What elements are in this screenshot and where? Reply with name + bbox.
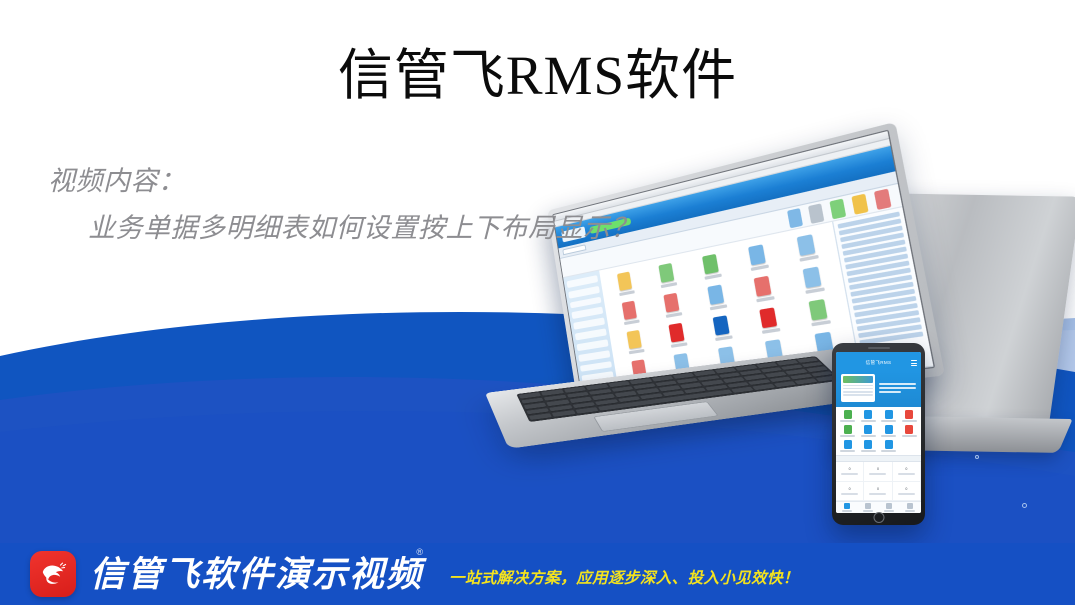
logo-mark-svg: [36, 557, 70, 591]
phone-app-icon[interactable]: [859, 410, 879, 422]
sidebar-item[interactable]: [575, 328, 607, 340]
phone-app-icon[interactable]: [900, 410, 920, 422]
xinguanfei-bird-logo-icon: [30, 551, 76, 597]
app-grid-icon[interactable]: [614, 328, 655, 356]
app-grid-icon[interactable]: [788, 264, 839, 297]
toolbar-icon[interactable]: [851, 194, 868, 215]
phone-stat-cell[interactable]: 0: [893, 462, 921, 482]
app-grid-icon[interactable]: [656, 321, 699, 350]
page-title: 信管飞RMS软件: [0, 44, 1075, 107]
phone-stat-cell[interactable]: 0: [836, 482, 864, 502]
phone-app-icon[interactable]: [879, 410, 899, 422]
app-grid-icon[interactable]: [651, 290, 694, 320]
registered-mark: ®: [416, 548, 425, 557]
key: [774, 381, 797, 387]
toolbar-icon[interactable]: [874, 189, 892, 210]
sidebar-item[interactable]: [580, 361, 612, 372]
sidebar-item[interactable]: [573, 318, 605, 330]
key: [753, 384, 776, 391]
phone-app-icon[interactable]: [838, 440, 858, 452]
sidebar-item[interactable]: [578, 350, 610, 362]
app-grid-icon[interactable]: [699, 313, 745, 343]
phone-app-icon[interactable]: [859, 425, 879, 437]
phone-tab-workspace[interactable]: [857, 502, 878, 513]
phone-app-title: 信管飞RMS: [866, 360, 892, 366]
hamburger-menu-icon[interactable]: [911, 360, 917, 366]
sidebar-item[interactable]: [577, 339, 609, 351]
app-grid-icon[interactable]: [745, 305, 793, 336]
phone-tab-home[interactable]: [836, 502, 857, 513]
bottom-banner: 信管飞软件演示视频 ® 一站式解决方案，应用逐步深入、投入小见效快！: [0, 543, 1075, 605]
phone-stat-cell[interactable]: 0: [893, 482, 921, 502]
video-content-question: 业务单据多明细表如何设置按上下布局显示？: [48, 205, 648, 252]
phone-promo-text: [879, 383, 916, 393]
phone-tab-reports[interactable]: [879, 502, 900, 513]
toolbar-icon[interactable]: [808, 203, 824, 224]
toolbar-icon[interactable]: [787, 208, 803, 228]
app-grid-icon[interactable]: [739, 273, 787, 305]
app-grid-icon[interactable]: [782, 231, 832, 264]
decor-dot: [975, 455, 979, 459]
phone-tab-profile[interactable]: [900, 502, 921, 513]
video-content-label: 视频内容：: [48, 158, 648, 205]
key: [731, 387, 754, 394]
decor-dot: [1022, 503, 1027, 508]
app-grid-icon[interactable]: [646, 260, 689, 290]
phone-tab-bar: [836, 501, 921, 513]
key: [795, 379, 818, 385]
phone-app-icon[interactable]: [838, 410, 858, 422]
phone-app-grid: [836, 407, 921, 455]
brand-name-text: 信管飞软件演示视频: [90, 555, 423, 594]
phone-stats-grid: 0 0 0 0 0 0: [836, 462, 921, 501]
app-grid-icon[interactable]: [734, 241, 782, 273]
app-grid-icon[interactable]: [610, 298, 651, 327]
phone-app-icon[interactable]: [838, 425, 858, 437]
brand-name: 信管飞软件演示视频 ®: [90, 557, 423, 592]
phone-app-icon[interactable]: [879, 425, 899, 437]
app-grid-icon[interactable]: [793, 296, 844, 328]
phone-stat-cell[interactable]: 0: [864, 482, 892, 502]
slide-root: 信管飞RMS软件 视频内容： 业务单据多明细表如何设置按上下布局显示？: [0, 0, 1075, 605]
phone-stats-header: [836, 455, 921, 462]
app-grid-icon[interactable]: [605, 269, 646, 298]
phone-app-icon[interactable]: [900, 425, 920, 437]
phone-promo-banner: [836, 369, 921, 407]
phone-app-header: 信管飞RMS: [836, 357, 921, 369]
toolbar-icon[interactable]: [829, 199, 846, 220]
app-grid-icon[interactable]: [694, 282, 739, 313]
sidebar-item[interactable]: [571, 307, 603, 319]
smartphone-device: 信管飞RMS: [832, 343, 925, 525]
phone-screen: 信管飞RMS: [836, 352, 921, 513]
phone-promo-card: [841, 374, 875, 402]
brand-tagline: 一站式解决方案，应用逐步深入、投入小见效快！: [449, 566, 799, 588]
phone-stat-cell[interactable]: 0: [836, 462, 864, 482]
video-content-block: 视频内容： 业务单据多明细表如何设置按上下布局显示？: [48, 158, 648, 252]
sidebar-item[interactable]: [568, 286, 600, 299]
phone-app-icon[interactable]: [879, 440, 899, 452]
phone-app-icon[interactable]: [859, 440, 879, 452]
app-grid-icon[interactable]: [689, 251, 734, 282]
phone-stat-cell[interactable]: 0: [864, 462, 892, 482]
